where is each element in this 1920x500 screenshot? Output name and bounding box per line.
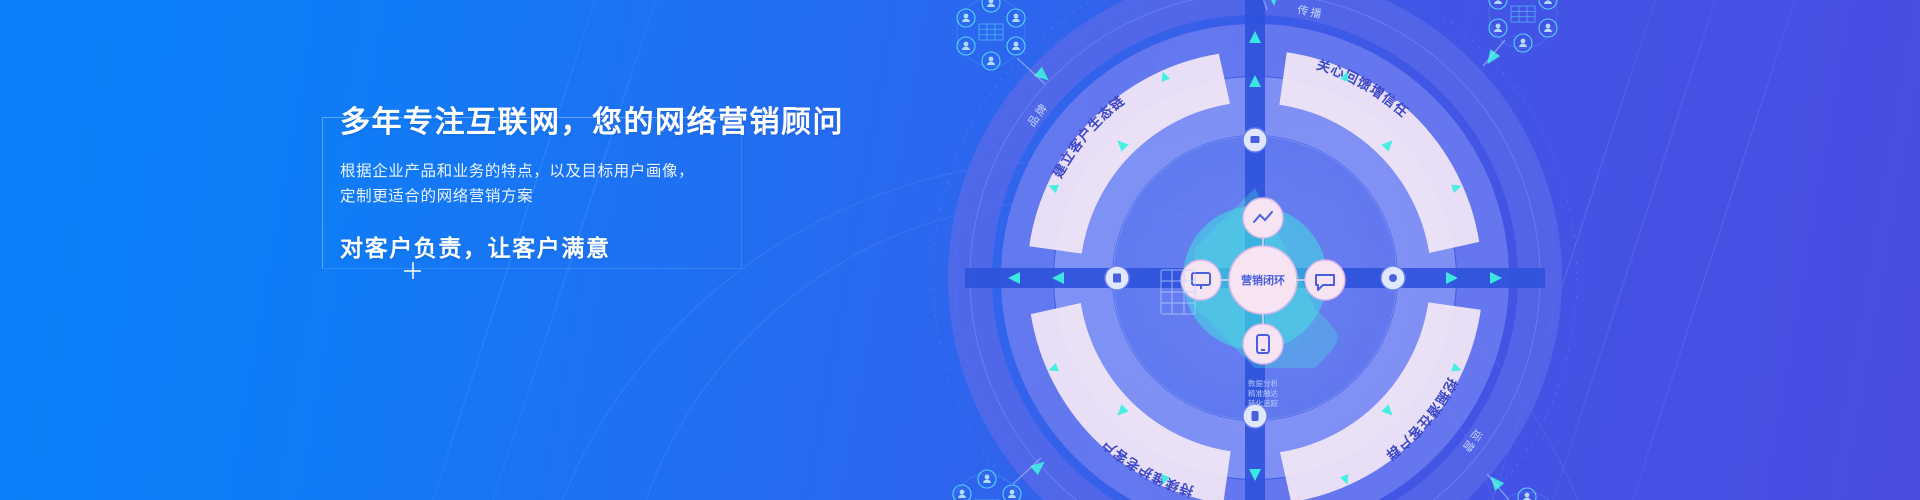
page-title: 多年专注互联网，您的网络营销顾问: [340, 105, 810, 141]
page-subtitle: 对客户负责，让客户满意: [340, 229, 810, 263]
inner-grid-label-1: 精准触达: [1248, 388, 1278, 398]
subtext-line-2: 定制更适合的网络营销方案: [340, 184, 810, 209]
plus-marker-icon: [404, 262, 422, 280]
center-label: 营销闭环: [1241, 273, 1285, 287]
subtext-line-1: 根据企业产品和业务的特点，以及目标用户画像，: [340, 159, 810, 184]
hero-text-panel: 多年专注互联网，您的网络营销顾问 根据企业产品和业务的特点，以及目标用户画像， …: [322, 117, 742, 269]
satellite-cluster: [1489, 0, 1557, 52]
marketing-loop-graphic: 建立客户生态链 关心回馈增信任 挖掘潜在客户群 持续维护老客户 品牌 传播 运营…: [865, 0, 1645, 500]
inner-grid-label-0: 数据分析: [1248, 378, 1278, 388]
inner-grid-label-2: 转化追踪: [1248, 398, 1278, 408]
